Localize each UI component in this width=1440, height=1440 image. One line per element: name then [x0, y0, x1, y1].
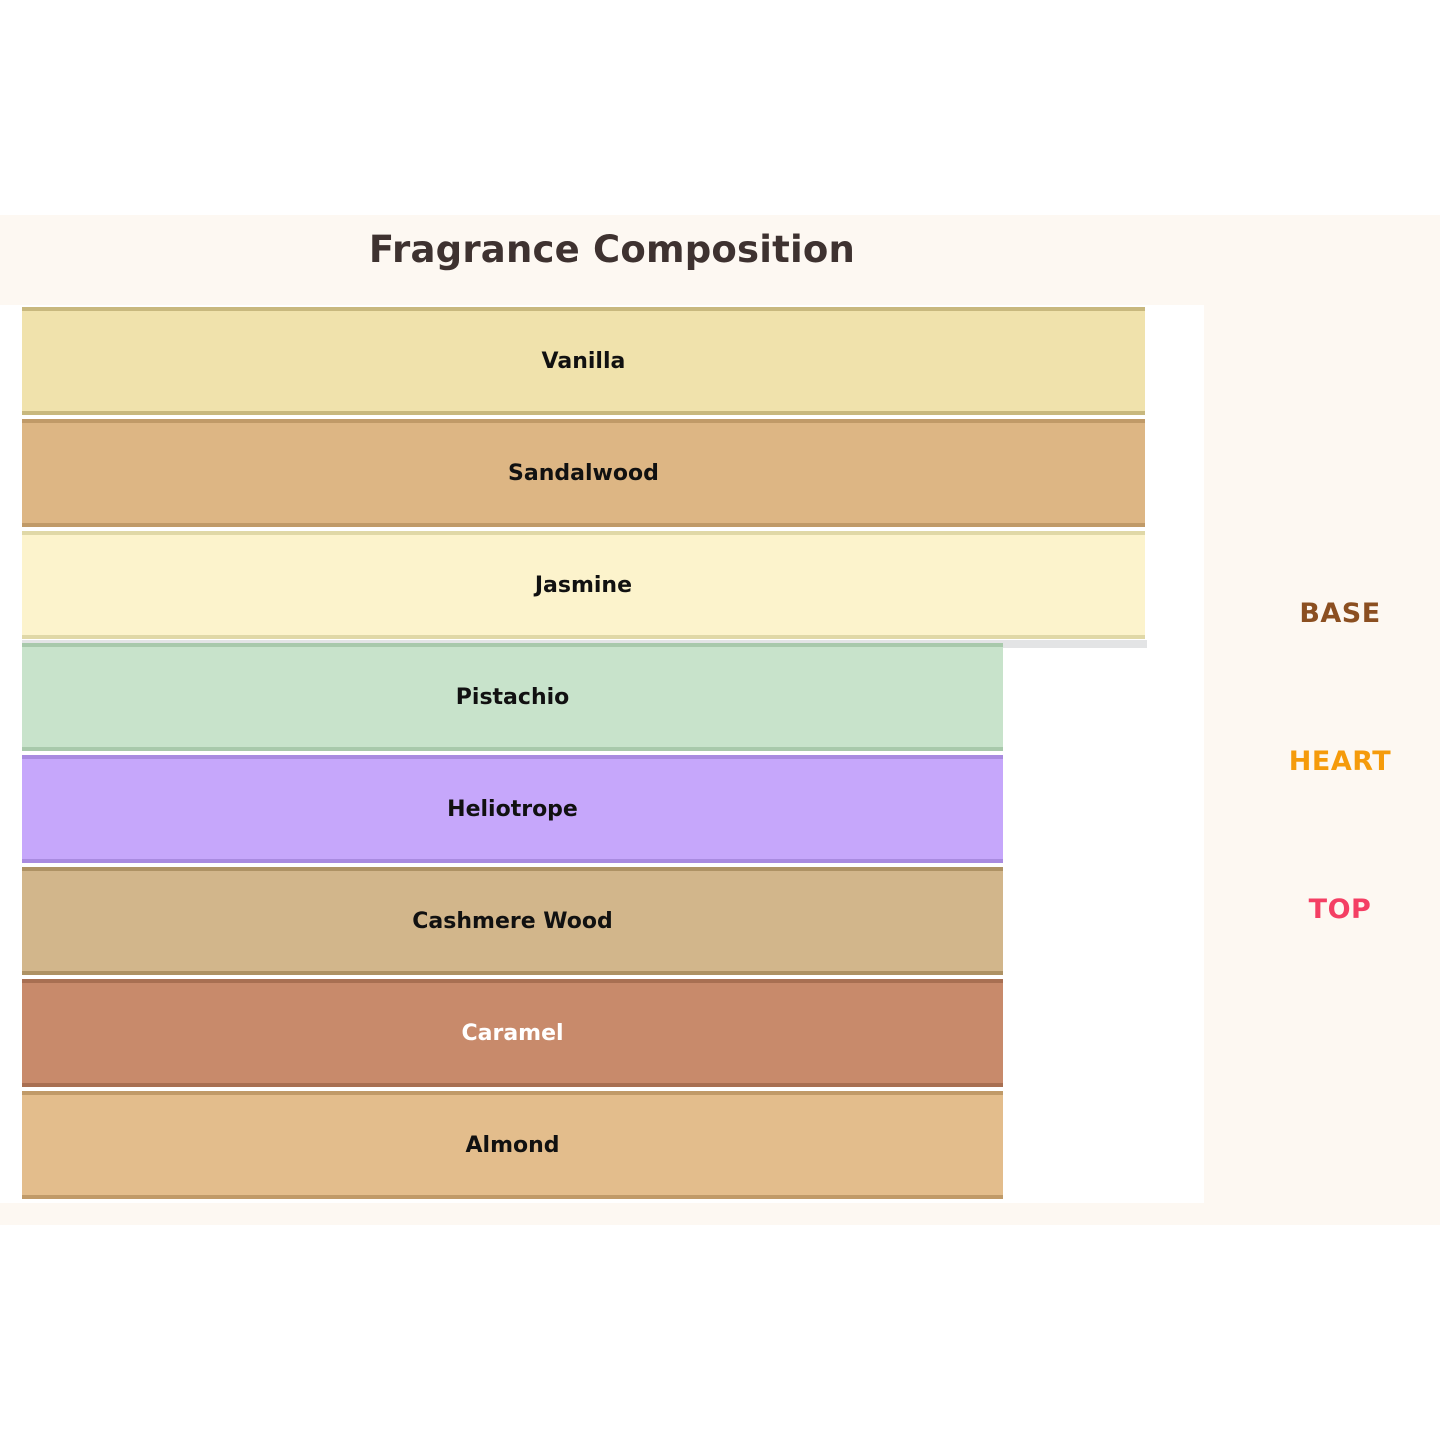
group-label-top: TOP — [1240, 894, 1440, 925]
bar-series: VanillaSandalwoodJasminePistachioHeliotr… — [22, 307, 1204, 1203]
bar-label: Vanilla — [542, 349, 626, 374]
bar-cashmere-wood[interactable]: Cashmere Wood — [22, 867, 1003, 975]
bar-label: Almond — [466, 1133, 560, 1158]
bar-label: Cashmere Wood — [412, 909, 612, 934]
bar-pistachio[interactable]: Pistachio — [22, 643, 1003, 751]
group-label-heart: HEART — [1240, 746, 1440, 777]
bar-caramel[interactable]: Caramel — [22, 979, 1003, 1087]
bar-label: Pistachio — [456, 685, 569, 710]
bar-label: Heliotrope — [447, 797, 578, 822]
bar-label: Caramel — [461, 1021, 563, 1046]
bar-vanilla[interactable]: Vanilla — [22, 307, 1145, 415]
bar-label: Jasmine — [535, 573, 632, 598]
bar-sandalwood[interactable]: Sandalwood — [22, 419, 1145, 527]
page-title: Fragrance Composition — [0, 228, 1224, 271]
group-label-base: BASE — [1240, 598, 1440, 629]
chart-canvas: Fragrance Composition VanillaSandalwoodJ… — [0, 0, 1440, 1440]
bar-jasmine[interactable]: Jasmine — [22, 531, 1145, 639]
bar-almond[interactable]: Almond — [22, 1091, 1003, 1199]
bar-label: Sandalwood — [508, 461, 659, 486]
bar-heliotrope[interactable]: Heliotrope — [22, 755, 1003, 863]
